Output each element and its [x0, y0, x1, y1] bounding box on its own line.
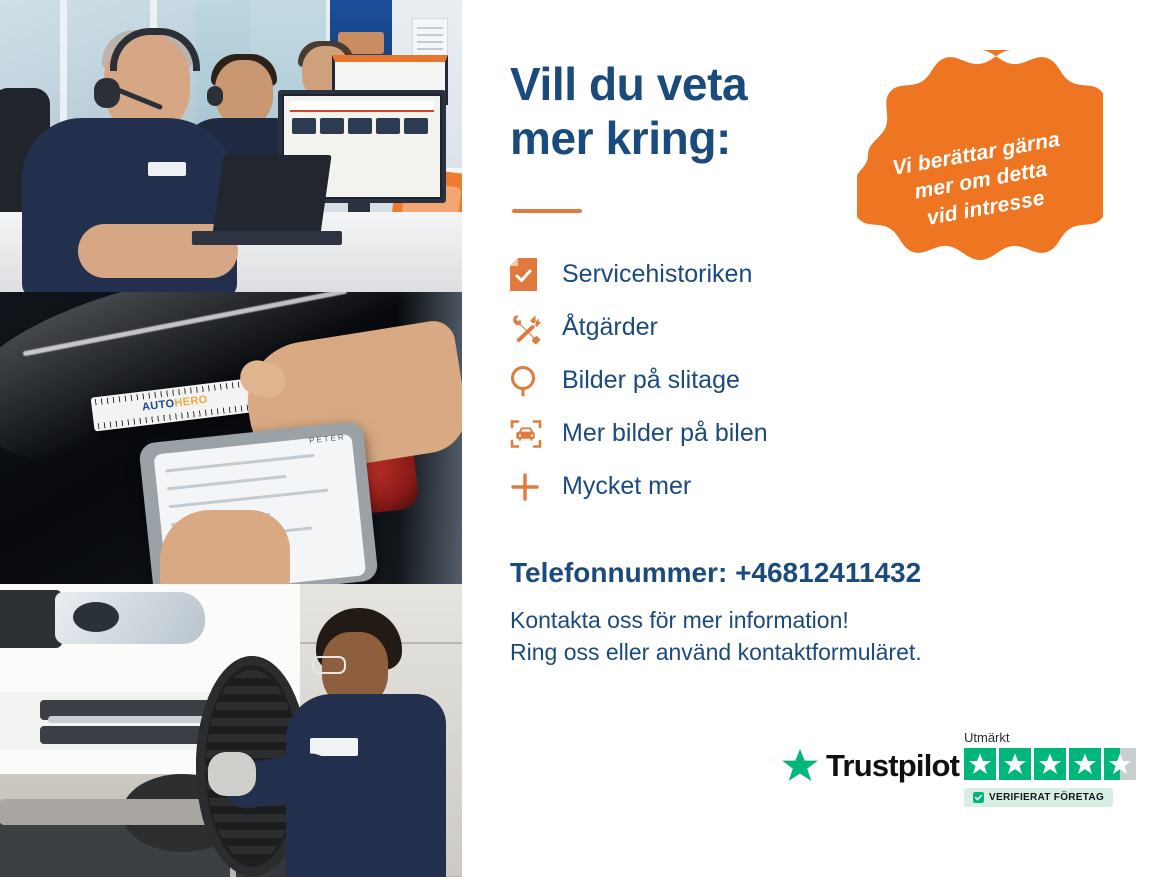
- title-accent-divider: [512, 209, 582, 213]
- star-rating: [964, 748, 1144, 780]
- verified-company-badge: VERIFIERAT FÖRETAG: [964, 788, 1113, 807]
- content-panel: Vill du veta mer kring: Vi berättar gärn…: [462, 0, 1170, 877]
- page-title-line1: Vill du veta: [510, 58, 840, 112]
- feature-label: Servicehistoriken: [562, 262, 752, 287]
- star-1: [964, 748, 996, 780]
- page-title-line2: mer kring:: [510, 112, 840, 166]
- feature-label: Mycket mer: [562, 474, 691, 499]
- tire-service-photo: [0, 584, 462, 877]
- feature-item-mer-bilder-pa-bilen[interactable]: Mer bilder på bilen: [510, 407, 1110, 460]
- feature-list: Servicehistoriken Åtgärder: [510, 248, 1110, 513]
- call-center-photo: [0, 0, 462, 292]
- headset-icon: [857, 44, 909, 94]
- badge-text: Vi berättar gärna mer om detta vid intre…: [877, 124, 1084, 239]
- feature-item-servicehistoriken[interactable]: Servicehistoriken: [510, 248, 1110, 301]
- star-4: [1069, 748, 1101, 780]
- feature-item-atgarder[interactable]: Åtgärder: [510, 301, 1110, 354]
- verified-check-icon: [973, 792, 984, 803]
- contact-line-1: Kontakta oss för mer information!: [510, 604, 1130, 637]
- car-inspection-photo: AUTOHERO PETER: [0, 292, 462, 584]
- magnifier-icon: [510, 361, 562, 401]
- verified-label: VERIFIERAT FÖRETAG: [989, 792, 1104, 803]
- feature-label: Åtgärder: [562, 315, 658, 340]
- car-grille: [0, 590, 62, 648]
- contact-line-2: Ring oss eller använd kontaktformuläret.: [510, 636, 1130, 669]
- star-3: [1034, 748, 1066, 780]
- trustpilot-wordmark: Trustpilot: [826, 748, 959, 784]
- page-title: Vill du veta mer kring:: [510, 58, 840, 166]
- promo-page: AUTOHERO PETER: [0, 0, 1170, 877]
- document-check-icon: [510, 255, 562, 295]
- agent-foreground: [22, 34, 252, 292]
- laptop: [212, 155, 331, 235]
- star-2: [999, 748, 1031, 780]
- car-scan-icon: [510, 414, 562, 454]
- mechanic: [282, 608, 452, 876]
- phone-number[interactable]: +46812411432: [735, 557, 921, 588]
- contact-block: Telefonnummer: +46812411432 Kontakta oss…: [510, 556, 1130, 669]
- feature-item-bilder-pa-slitage[interactable]: Bilder på slitage: [510, 354, 1110, 407]
- phone-label: Telefonnummer:: [510, 557, 727, 588]
- feature-label: Bilder på slitage: [562, 368, 740, 393]
- trustpilot-star-icon: [782, 749, 818, 783]
- photo-column: AUTOHERO PETER: [0, 0, 462, 877]
- trustpilot-logo: Trustpilot: [782, 748, 959, 784]
- feature-item-mycket-mer[interactable]: Mycket mer: [510, 460, 1110, 513]
- tools-wrench-screwdriver-icon: [510, 308, 562, 348]
- car-headlight: [55, 592, 205, 644]
- trustpilot-rating: Utmärkt: [964, 730, 1144, 780]
- inspector-hand-lower: [160, 510, 290, 584]
- phone-line: Telefonnummer: +46812411432: [510, 556, 1130, 590]
- trustpilot-widget[interactable]: Trustpilot Utmärkt VERIFIERAT FÖRETAG: [782, 730, 1142, 820]
- star-5-half: [1104, 748, 1136, 780]
- feature-label: Mer bilder på bilen: [562, 421, 768, 446]
- rating-label: Utmärkt: [964, 730, 1144, 745]
- plus-icon: [510, 467, 562, 507]
